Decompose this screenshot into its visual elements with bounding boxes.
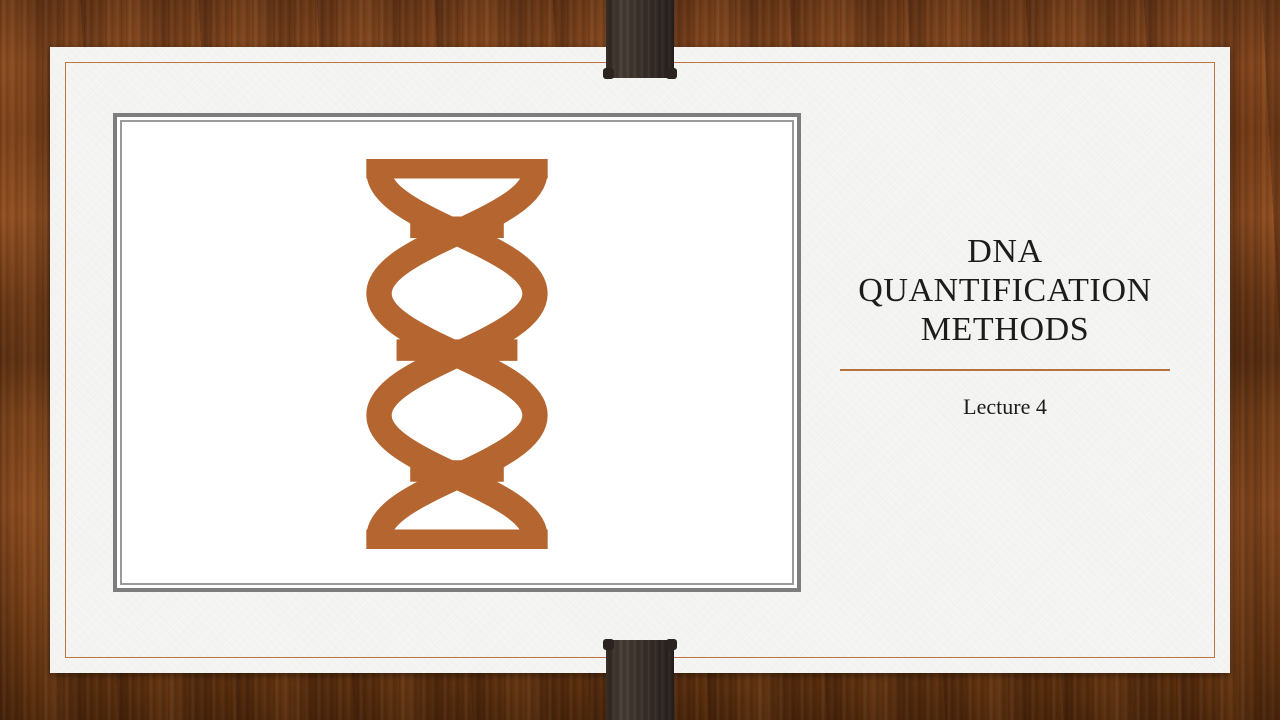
binder-clip-foot-left [603, 639, 614, 650]
picture-inner-frame [120, 120, 794, 585]
binder-clip-top [606, 0, 674, 78]
binder-clip-foot-right [666, 68, 677, 79]
binder-clip-foot-right [666, 639, 677, 650]
binder-clip-foot-left [603, 68, 614, 79]
picture-frame[interactable] [113, 113, 801, 592]
dna-double-helix-icon [358, 159, 556, 549]
page-title: DNA QUANTIFICATION METHODS [840, 232, 1170, 349]
title-divider [840, 369, 1170, 371]
title-block[interactable]: DNA QUANTIFICATION METHODS Lecture 4 [840, 232, 1170, 420]
slide[interactable]: DNA QUANTIFICATION METHODS Lecture 4 [50, 47, 1230, 673]
slide-subtitle: Lecture 4 [840, 394, 1170, 420]
binder-clip-bottom [606, 640, 674, 720]
presentation-stage: DNA QUANTIFICATION METHODS Lecture 4 [0, 0, 1280, 720]
